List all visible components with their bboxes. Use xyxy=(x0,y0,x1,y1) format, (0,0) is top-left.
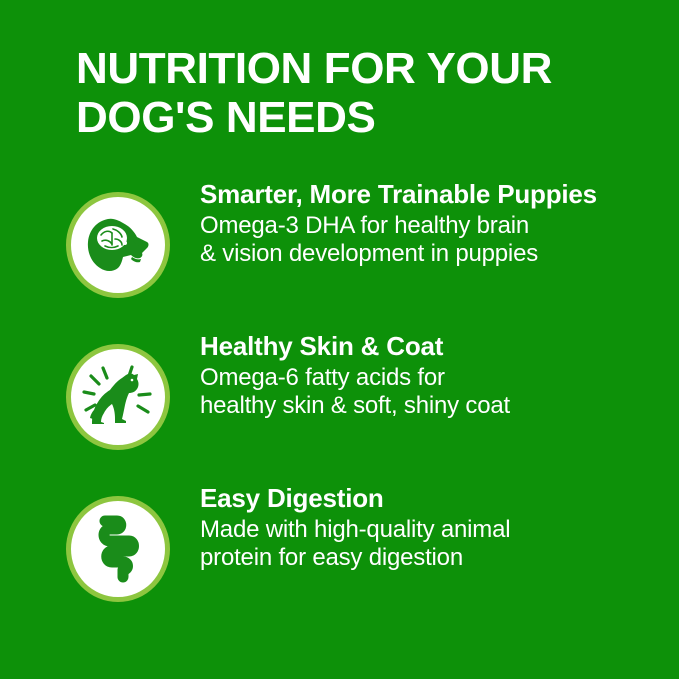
feature-text-block: Smarter, More Trainable Puppies Omega-3 … xyxy=(170,178,670,269)
feature-text-block: Easy Digestion Made with high-quality an… xyxy=(170,482,670,573)
sitting-dog-shine-icon xyxy=(82,365,154,429)
feature-text-block: Healthy Skin & Coat Omega-6 fatty acids … xyxy=(170,330,670,421)
feature-body: Made with high-quality animal protein fo… xyxy=(200,516,670,574)
dog-head-brain-icon xyxy=(85,215,151,275)
feature-icon-badge xyxy=(66,344,170,450)
nutrition-benefits-panel: NUTRITION FOR YOUR DOG'S NEEDS xyxy=(0,0,679,679)
feature-body: Omega-3 DHA for healthy brain & vision d… xyxy=(200,212,670,270)
feature-list: Smarter, More Trainable Puppies Omega-3 … xyxy=(0,178,679,634)
feature-heading: Easy Digestion xyxy=(200,484,670,514)
feature-item-healthy-skin-coat: Healthy Skin & Coat Omega-6 fatty acids … xyxy=(0,330,679,482)
feature-heading: Healthy Skin & Coat xyxy=(200,332,670,362)
intestine-icon xyxy=(89,514,147,584)
feature-heading: Smarter, More Trainable Puppies xyxy=(200,180,670,210)
feature-item-easy-digestion: Easy Digestion Made with high-quality an… xyxy=(0,482,679,634)
feature-icon-badge xyxy=(66,192,170,298)
page-title: NUTRITION FOR YOUR DOG'S NEEDS xyxy=(76,44,636,143)
feature-item-smarter-puppies: Smarter, More Trainable Puppies Omega-3 … xyxy=(0,178,679,330)
feature-icon-badge xyxy=(66,496,170,602)
feature-body: Omega-6 fatty acids for healthy skin & s… xyxy=(200,364,670,422)
